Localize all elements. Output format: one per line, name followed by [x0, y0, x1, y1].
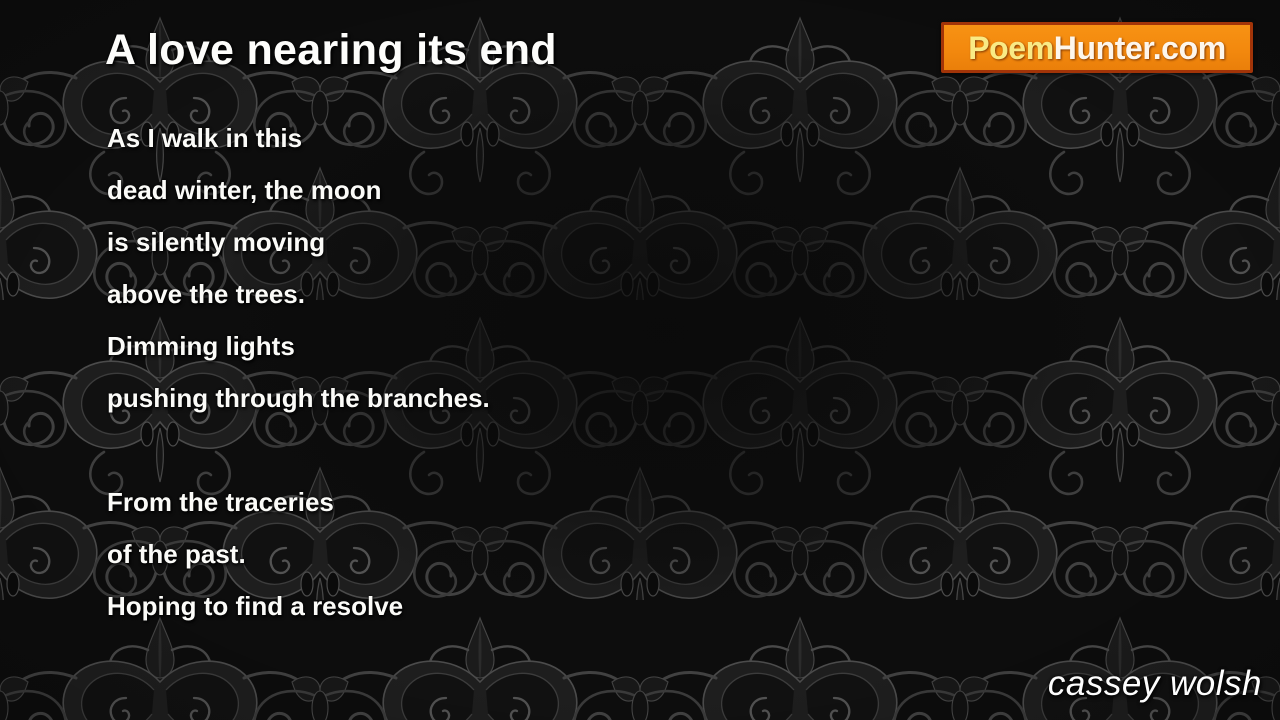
author-name: cassey wolsh	[1048, 664, 1262, 704]
poem-line: From the traceries	[107, 476, 490, 528]
poem-line: Hoping to find a resolve	[107, 580, 490, 632]
logo-text: PoemHunter.com	[968, 32, 1226, 64]
content-layer: A love nearing its end As I walk in this…	[0, 0, 1280, 720]
page-title: A love nearing its end	[105, 26, 557, 75]
poem-line: is silently moving	[107, 216, 490, 268]
poem-line: of the past.	[107, 528, 490, 580]
poem-line: Dimming lights	[107, 320, 490, 372]
poem-image-canvas: A love nearing its end As I walk in this…	[0, 0, 1280, 720]
logo-text-hunter: Hunter.com	[1054, 30, 1226, 66]
poem-line: dead winter, the moon	[107, 164, 490, 216]
poem-line: above the trees.	[107, 268, 490, 320]
poem-line: pushing through the branches.	[107, 372, 490, 424]
poem-body: As I walk in this dead winter, the moon …	[107, 112, 490, 632]
poem-stanza-break	[107, 424, 490, 476]
poem-line: As I walk in this	[107, 112, 490, 164]
poemhunter-logo[interactable]: PoemHunter.com	[941, 22, 1253, 73]
logo-text-poem: Poem	[968, 30, 1054, 66]
